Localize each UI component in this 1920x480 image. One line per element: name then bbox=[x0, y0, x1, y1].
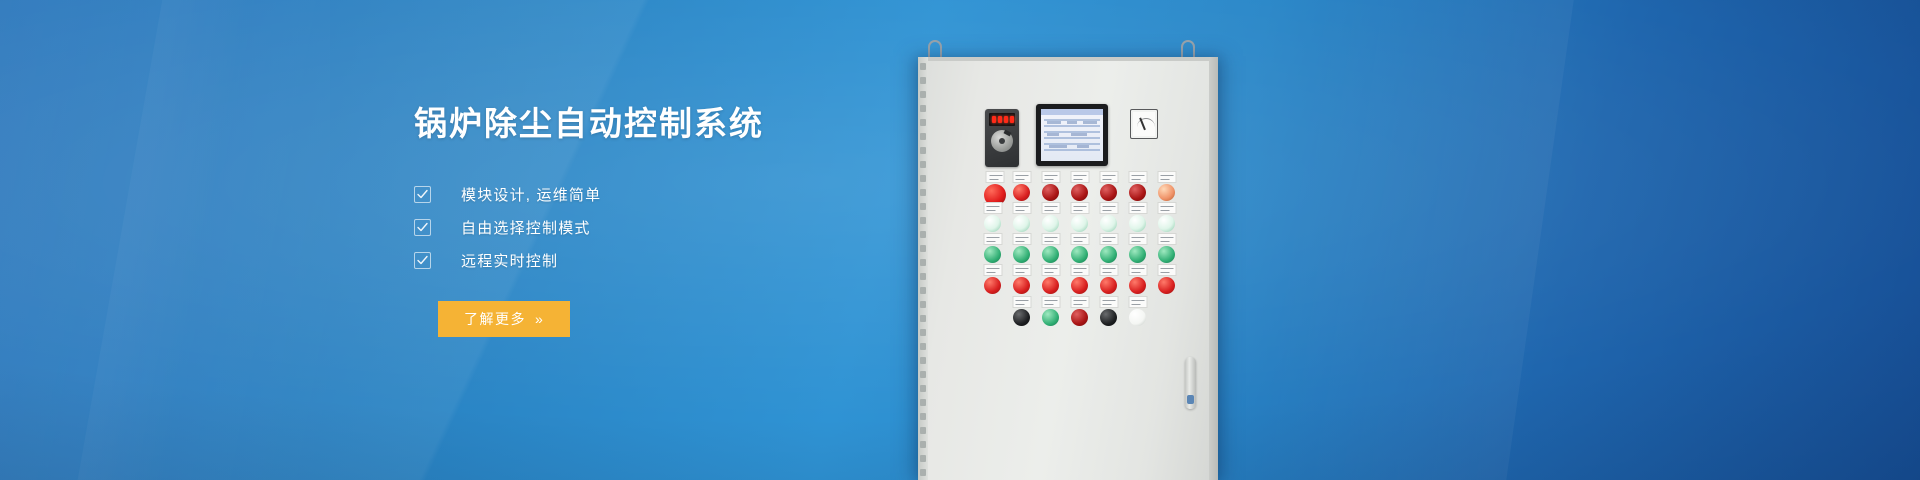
indicator-button-red[interactable] bbox=[1071, 277, 1088, 294]
meter-face bbox=[1133, 112, 1155, 136]
hmi-title-bar bbox=[1041, 109, 1103, 115]
indicator-button-red[interactable] bbox=[1013, 184, 1030, 201]
button-label-plate bbox=[1070, 296, 1089, 308]
checkbox-checked-icon bbox=[414, 252, 431, 269]
button-label-plate bbox=[983, 233, 1002, 245]
button-label-plate bbox=[1099, 264, 1118, 276]
list-item: 自由选择控制模式 bbox=[414, 211, 934, 244]
button-label-plate bbox=[1012, 202, 1031, 214]
button-label-plate bbox=[1070, 233, 1089, 245]
indicator-button-red[interactable] bbox=[1158, 277, 1175, 294]
button-label-plate bbox=[1012, 233, 1031, 245]
indicator-button-dark-red[interactable] bbox=[1071, 184, 1088, 201]
button-label-plate bbox=[1128, 171, 1147, 183]
list-item: 远程实时控制 bbox=[414, 244, 934, 277]
button-label-plate bbox=[983, 202, 1002, 214]
cabinet-right-edge bbox=[1209, 57, 1218, 480]
selector-switch-black[interactable] bbox=[1013, 309, 1030, 326]
background-light-streak bbox=[78, 0, 253, 480]
indicator-button-light-green[interactable] bbox=[1129, 215, 1146, 232]
indicator-button-red[interactable] bbox=[984, 277, 1001, 294]
indicator-button-dark-red[interactable] bbox=[1100, 184, 1117, 201]
background-light-streak bbox=[0, 0, 330, 480]
button-label-plate bbox=[1041, 264, 1060, 276]
indicator-button-amber[interactable] bbox=[1158, 184, 1175, 201]
indicator-button-red[interactable] bbox=[1129, 277, 1146, 294]
button-label-plate bbox=[1041, 296, 1060, 308]
indicator-button-dark-red[interactable] bbox=[1042, 184, 1059, 201]
button-label-plate bbox=[1070, 171, 1089, 183]
indicator-button-green[interactable] bbox=[1071, 246, 1088, 263]
feature-label: 模块设计, 运维简单 bbox=[461, 184, 601, 205]
indicator-button-green[interactable] bbox=[1158, 246, 1175, 263]
button-label-plate bbox=[1157, 233, 1176, 245]
indicator-button-light-green[interactable] bbox=[1042, 215, 1059, 232]
analog-panel-meter bbox=[1130, 109, 1158, 139]
list-item: 模块设计, 运维简单 bbox=[414, 178, 934, 211]
button-label-plate bbox=[1128, 264, 1147, 276]
learn-more-label: 了解更多 bbox=[464, 309, 526, 329]
vfd-display bbox=[989, 113, 1015, 126]
button-label-plate bbox=[1012, 264, 1031, 276]
product-image-control-cabinet bbox=[900, 0, 1320, 480]
feature-label: 远程实时控制 bbox=[461, 250, 558, 271]
button-label-plate bbox=[1157, 202, 1176, 214]
selector-switch-white[interactable] bbox=[1129, 309, 1146, 326]
hero-banner: 锅炉除尘自动控制系统 模块设计, 运维简单 自由选择控制模式 远程实时控制 bbox=[0, 0, 1920, 480]
button-label-plate bbox=[1041, 233, 1060, 245]
button-label-plate bbox=[1128, 202, 1147, 214]
indicator-button-red[interactable] bbox=[1013, 277, 1030, 294]
chevron-right-double-icon: » bbox=[535, 311, 544, 327]
cabinet-hinge-strip bbox=[918, 57, 928, 480]
control-cabinet-body bbox=[918, 57, 1218, 480]
button-label-plate bbox=[986, 171, 1005, 183]
button-label-plate bbox=[1070, 264, 1089, 276]
indicator-button-green[interactable] bbox=[1129, 246, 1146, 263]
indicator-button-dark-red[interactable] bbox=[1071, 309, 1088, 326]
cabinet-top-edge bbox=[918, 57, 1218, 61]
page-title: 锅炉除尘自动控制系统 bbox=[414, 104, 934, 144]
button-label-plate bbox=[1070, 202, 1089, 214]
button-label-plate bbox=[1099, 296, 1118, 308]
button-label-plate bbox=[1099, 171, 1118, 183]
feature-label: 自由选择控制模式 bbox=[461, 217, 591, 238]
indicator-button-light-green[interactable] bbox=[1071, 215, 1088, 232]
button-label-plate bbox=[1157, 264, 1176, 276]
indicator-button-green[interactable] bbox=[1100, 246, 1117, 263]
vfd-digital-drive bbox=[985, 109, 1019, 167]
indicator-button-light-green[interactable] bbox=[1100, 215, 1117, 232]
indicator-button-green[interactable] bbox=[1042, 246, 1059, 263]
selector-switch-black[interactable] bbox=[1100, 309, 1117, 326]
hmi-screen-content bbox=[1041, 109, 1103, 161]
button-label-plate bbox=[1157, 171, 1176, 183]
checkbox-checked-icon bbox=[414, 186, 431, 203]
indicator-button-light-green[interactable] bbox=[1158, 215, 1175, 232]
indicator-button-light-green[interactable] bbox=[984, 215, 1001, 232]
button-label-plate bbox=[1099, 233, 1118, 245]
learn-more-button[interactable]: 了解更多 » bbox=[438, 301, 570, 337]
indicator-button-green[interactable] bbox=[984, 246, 1001, 263]
button-label-plate bbox=[1012, 171, 1031, 183]
indicator-button-red[interactable] bbox=[1100, 277, 1117, 294]
indicator-button-green[interactable] bbox=[1042, 309, 1059, 326]
feature-list: 模块设计, 运维简单 自由选择控制模式 远程实时控制 bbox=[414, 178, 934, 277]
indicator-button-red[interactable] bbox=[1042, 277, 1059, 294]
door-handle-lock[interactable] bbox=[1185, 357, 1196, 409]
button-label-plate bbox=[1099, 202, 1118, 214]
button-label-plate bbox=[1041, 171, 1060, 183]
button-label-plate bbox=[1041, 202, 1060, 214]
checkbox-checked-icon bbox=[414, 219, 431, 236]
button-label-plate bbox=[1012, 296, 1031, 308]
indicator-button-green[interactable] bbox=[1013, 246, 1030, 263]
key-cylinder-icon bbox=[1187, 395, 1194, 404]
hmi-touch-screen[interactable] bbox=[1036, 104, 1108, 166]
button-label-plate bbox=[1128, 296, 1147, 308]
button-label-plate bbox=[1128, 233, 1147, 245]
indicator-button-dark-red[interactable] bbox=[1129, 184, 1146, 201]
button-label-plate bbox=[983, 264, 1002, 276]
banner-copy-block: 锅炉除尘自动控制系统 模块设计, 运维简单 自由选择控制模式 远程实时控制 bbox=[414, 104, 934, 337]
indicator-button-light-green[interactable] bbox=[1013, 215, 1030, 232]
